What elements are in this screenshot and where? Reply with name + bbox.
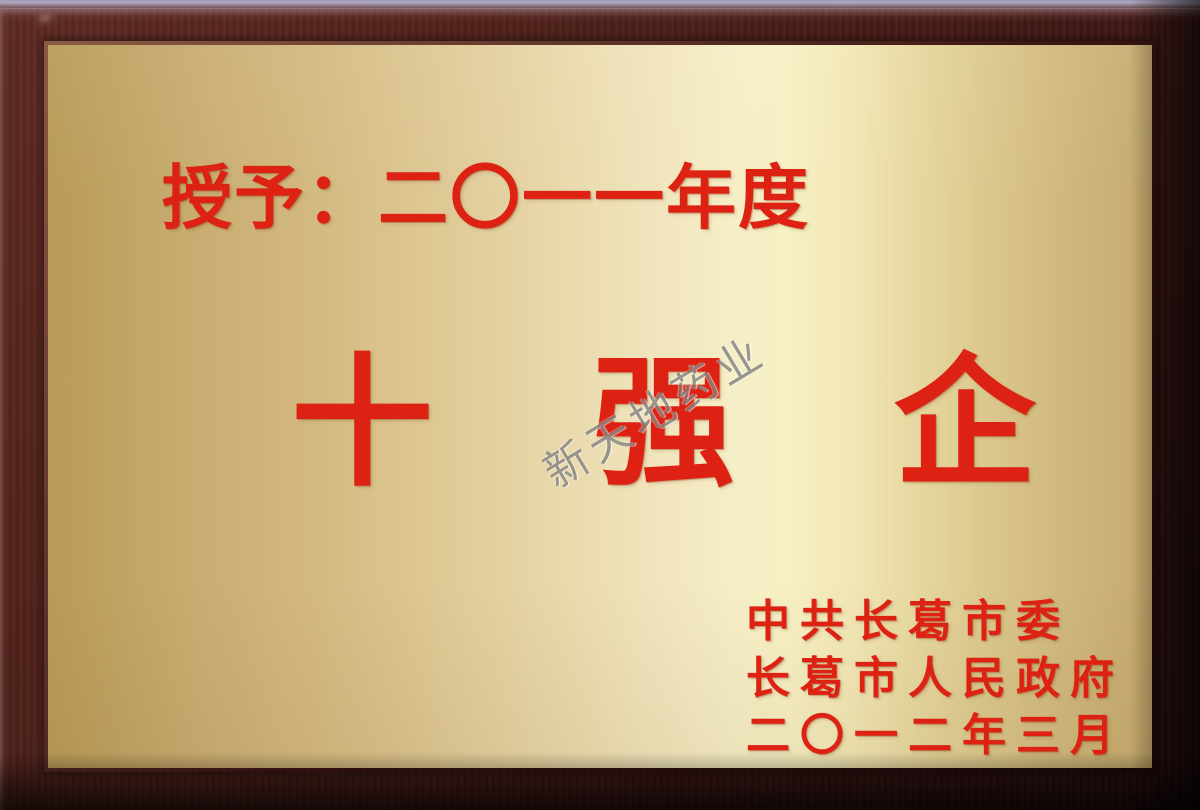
- frame-top-sheen: [0, 8, 1200, 22]
- signature-block: 中共长葛市委 长葛市人民政府 二〇一二年三月: [746, 593, 1124, 765]
- award-year-line: 授予：二〇一一年度: [162, 163, 810, 233]
- plaque-main-title: 十 强 企 业: [291, 352, 1152, 494]
- frame-left-edge-glint: [0, 6, 6, 810]
- signature-issuer-government: 长葛市人民政府: [746, 650, 1124, 707]
- signature-issuer-party: 中共长葛市委: [746, 593, 1124, 650]
- frame-corner-blemish: [33, 8, 57, 28]
- signature-date: 二〇一二年三月: [746, 707, 1124, 764]
- award-plaque: 授予：二〇一一年度 十 强 企 业 中共长葛市委 长葛市人民政府 二〇一二年三月…: [0, 0, 1200, 810]
- gold-plate: 授予：二〇一一年度 十 强 企 业 中共长葛市委 长葛市人民政府 二〇一二年三月…: [48, 45, 1152, 768]
